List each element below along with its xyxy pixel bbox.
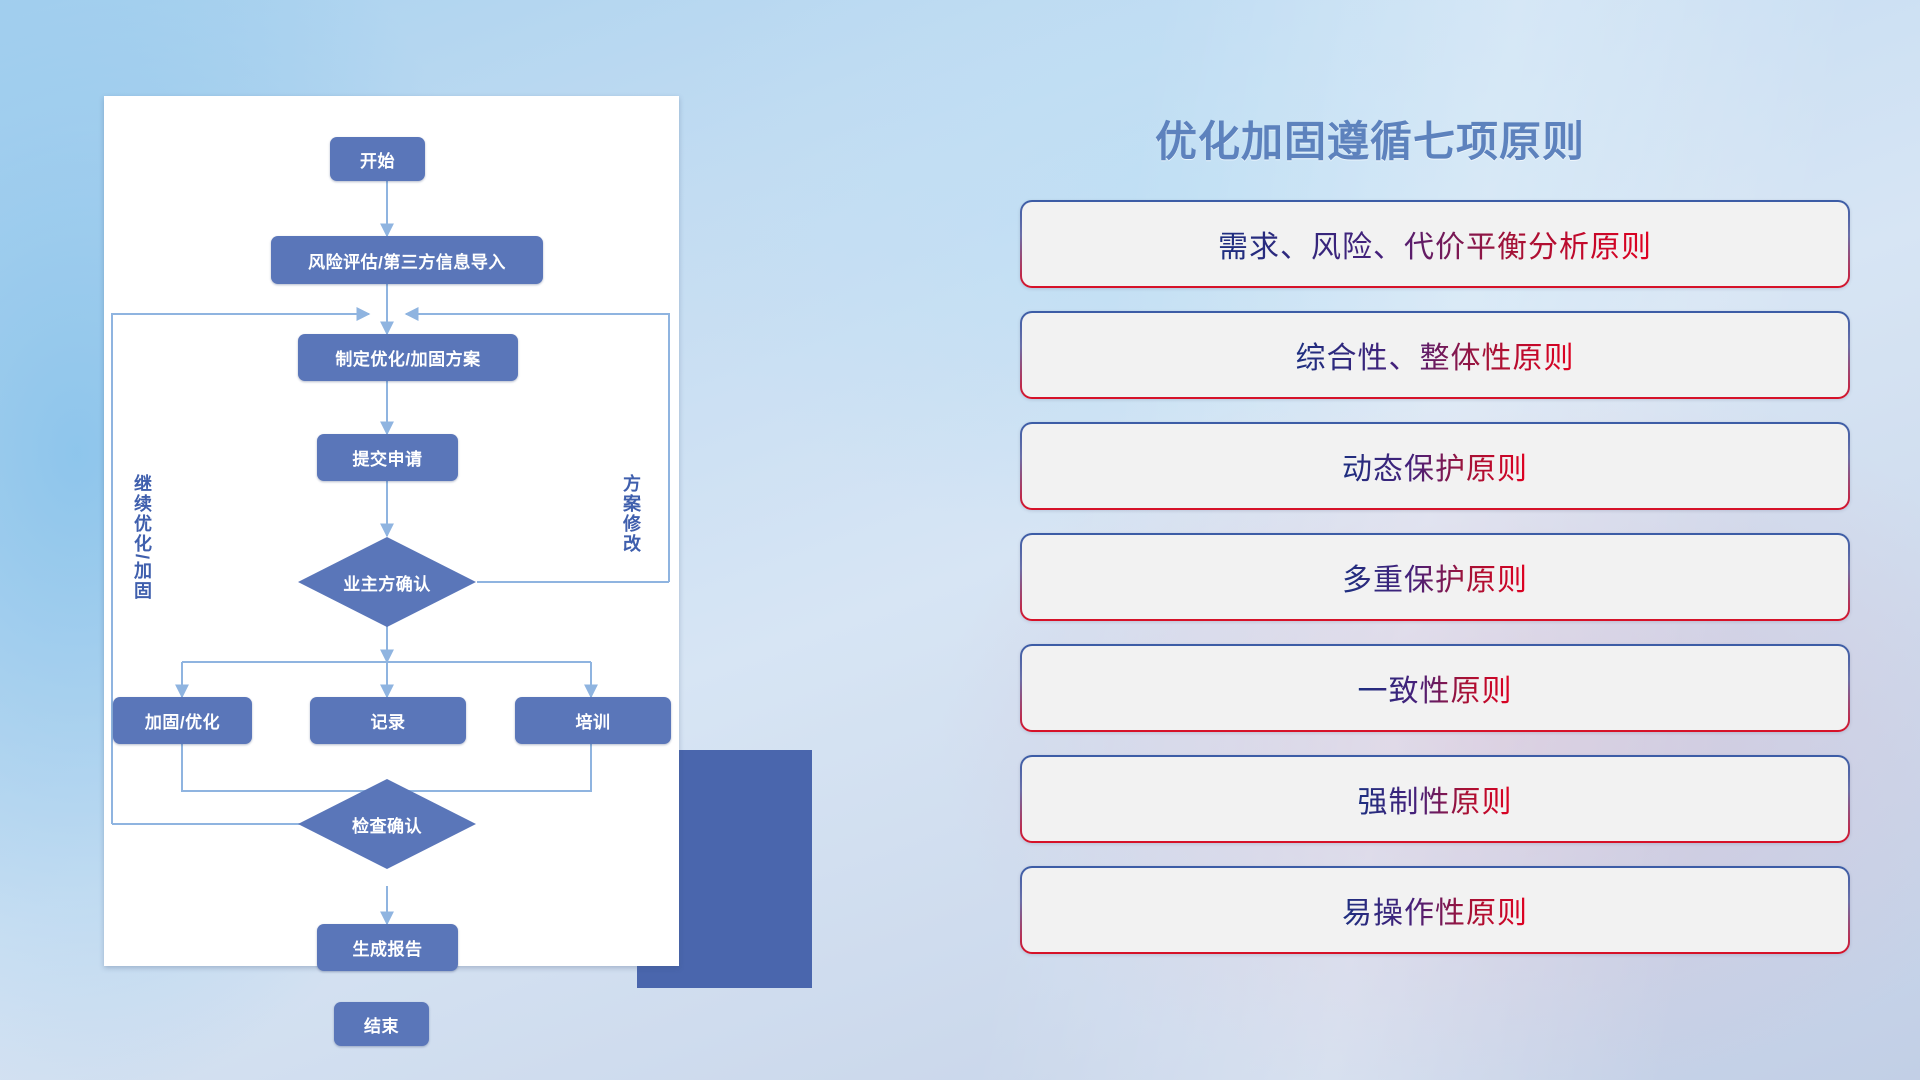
edge-label-continue-optimize: 继续优化/加固 [133,474,151,644]
principle-inner: 强制性原则 [1022,757,1848,841]
list-item[interactable]: 多重保护原则 [1020,533,1850,621]
list-item[interactable]: 易操作性原则 [1020,866,1850,954]
principle-label: 强制性原则 [1358,777,1513,821]
edge-label-plan-revision: 方案修改 [622,474,640,599]
flow-node-generate-report[interactable]: 生成报告 [317,924,458,971]
principle-label: 需求、风险、代价平衡分析原则 [1218,222,1652,266]
flow-node-label: 提交申请 [353,445,423,470]
flow-node-risk-assessment[interactable]: 风险评估/第三方信息导入 [271,236,543,284]
flow-node-label: 风险评估/第三方信息导入 [308,248,506,273]
principle-inner: 需求、风险、代价平衡分析原则 [1022,202,1848,286]
principle-inner: 易操作性原则 [1022,868,1848,952]
diamond-shape [297,536,477,628]
principle-label: 一致性原则 [1358,666,1513,710]
flow-node-label: 生成报告 [353,935,423,960]
principle-box: 需求、风险、代价平衡分析原则 [1020,200,1850,288]
flowchart-card: 开始 风险评估/第三方信息导入 制定优化/加固方案 提交申请 业主方确认 加固/… [104,96,679,966]
principle-inner: 动态保护原则 [1022,424,1848,508]
list-item[interactable]: 强制性原则 [1020,755,1850,843]
flow-node-record[interactable]: 记录 [310,697,466,744]
principle-list: 需求、风险、代价平衡分析原则 综合性、整体性原则 动态保护原则 多重保护原则 [1020,200,1850,977]
principle-inner: 一致性原则 [1022,646,1848,730]
flow-node-label: 开始 [360,147,395,172]
principle-box: 一致性原则 [1020,644,1850,732]
flow-node-submit-application[interactable]: 提交申请 [317,434,458,481]
list-item[interactable]: 一致性原则 [1020,644,1850,732]
flow-node-check-confirm[interactable]: 检查确认 [297,778,477,870]
diamond-shape [297,778,477,870]
flow-node-label: 制定优化/加固方案 [335,345,480,370]
flow-node-end[interactable]: 结束 [334,1002,429,1046]
principle-inner: 综合性、整体性原则 [1022,313,1848,397]
flow-node-label: 培训 [576,708,611,733]
flow-node-label: 加固/优化 [145,708,220,733]
principle-box: 易操作性原则 [1020,866,1850,954]
flow-node-start[interactable]: 开始 [330,137,425,181]
list-item[interactable]: 综合性、整体性原则 [1020,311,1850,399]
principle-box: 动态保护原则 [1020,422,1850,510]
principle-label: 动态保护原则 [1342,444,1528,488]
principle-box: 多重保护原则 [1020,533,1850,621]
principle-box: 综合性、整体性原则 [1020,311,1850,399]
flow-node-label: 结束 [364,1012,399,1037]
list-item[interactable]: 动态保护原则 [1020,422,1850,510]
flow-node-plan[interactable]: 制定优化/加固方案 [298,334,518,381]
principle-label: 多重保护原则 [1342,555,1528,599]
flow-node-owner-confirm[interactable]: 业主方确认 [297,536,477,628]
principle-inner: 多重保护原则 [1022,535,1848,619]
flow-node-training[interactable]: 培训 [515,697,671,744]
principle-box: 强制性原则 [1020,755,1850,843]
principle-label: 综合性、整体性原则 [1296,333,1575,377]
list-item[interactable]: 需求、风险、代价平衡分析原则 [1020,200,1850,288]
page-title: 优化加固遵循七项原则 [1155,108,1585,169]
principle-label: 易操作性原则 [1342,888,1528,932]
flow-node-label: 记录 [371,708,406,733]
flow-node-reinforce[interactable]: 加固/优化 [113,697,252,744]
principles-panel: 优化加固遵循七项原则 需求、风险、代价平衡分析原则 综合性、整体性原则 动态保护… [1020,90,1850,1000]
